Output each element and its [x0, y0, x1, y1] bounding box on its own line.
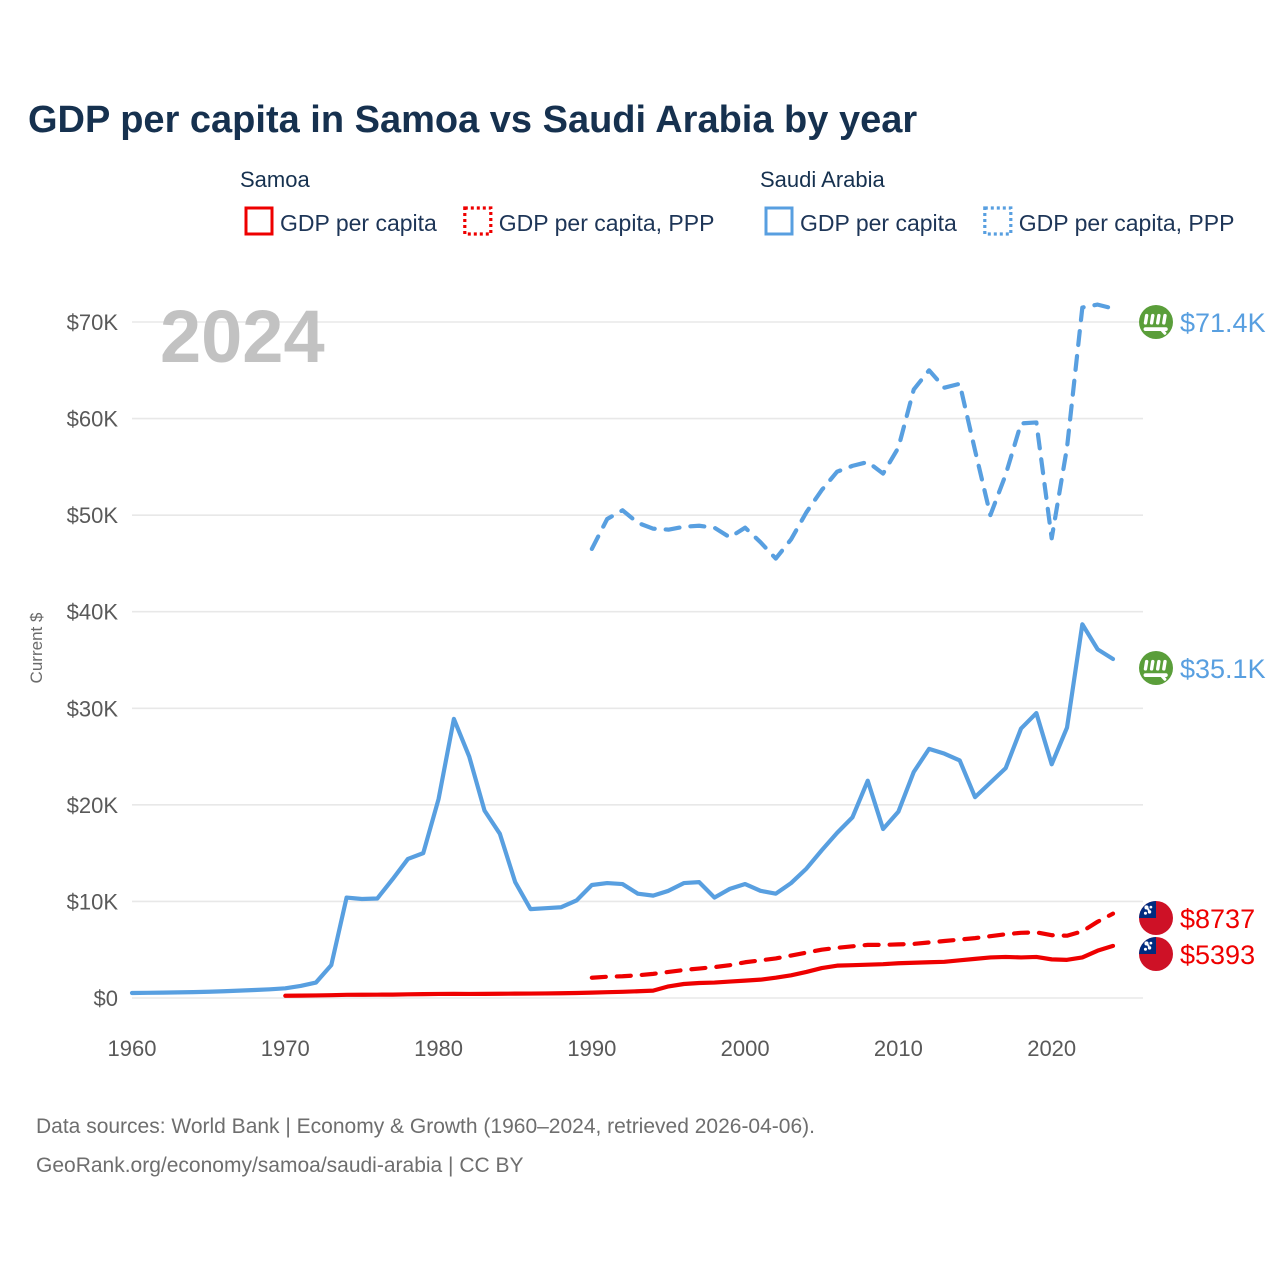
flag-script-stroke [1145, 662, 1146, 669]
end-label-samoa_gdp: $5393 [1139, 937, 1255, 971]
flag-script-stroke [1158, 316, 1159, 323]
x-axis-tick-label: 1960 [108, 1036, 157, 1061]
legend-group-label-saudi-arabia: Saudi Arabia [760, 167, 886, 192]
end-label-saudi_ppp: $71.4K [1139, 305, 1266, 339]
flag-script-stroke [1158, 662, 1159, 669]
x-axis-tick-label: 2000 [721, 1036, 770, 1061]
flag-star [1147, 944, 1149, 946]
series-line-samoa_ppp [592, 914, 1113, 978]
flag-script-stroke [1152, 662, 1153, 669]
y-axis-tick-label: $20K [67, 793, 119, 818]
year-watermark: 2024 [160, 295, 325, 378]
y-axis-tick-label: $0 [94, 986, 118, 1011]
y-axis-tick-label: $50K [67, 503, 119, 528]
gridlines [132, 322, 1143, 998]
legend-item-label: GDP per capita, PPP [499, 210, 715, 236]
legend-swatch-dotted [985, 208, 1011, 234]
legend-swatch-solid [246, 208, 272, 234]
flag-star [1150, 942, 1153, 945]
flag-script-stroke [1164, 316, 1165, 323]
y-axis-tick-label: $10K [67, 889, 119, 914]
x-axis-tick-labels: 1960197019801990200020102020 [108, 1036, 1077, 1061]
legend-item-label: GDP per capita, PPP [1019, 210, 1235, 236]
x-axis-tick-label: 1990 [567, 1036, 616, 1061]
series-line-samoa_gdp [285, 946, 1113, 996]
end-label-saudi_gdp: $35.1K [1139, 651, 1266, 685]
flag-star [1150, 906, 1153, 909]
gdp-per-capita-line-chart: GDP per capita in Samoa vs Saudi Arabia … [0, 0, 1280, 1280]
legend-item[interactable]: GDP per capita [766, 208, 957, 236]
legend-item-label: GDP per capita [800, 210, 957, 236]
saudi-arabia-flag-icon [1139, 305, 1173, 339]
legend-item-label: GDP per capita [280, 210, 437, 236]
legend-item[interactable]: GDP per capita, PPP [465, 208, 715, 236]
saudi-arabia-flag-icon [1139, 651, 1173, 685]
series-lines [132, 305, 1113, 996]
flag-script-stroke [1152, 316, 1153, 323]
y-axis-title: Current $ [27, 612, 46, 683]
x-axis-tick-label: 1970 [261, 1036, 310, 1061]
footer-data-sources: Data sources: World Bank | Economy & Gro… [36, 1115, 815, 1138]
flag-star [1144, 912, 1147, 915]
end-label-value: $71.4K [1180, 308, 1266, 338]
x-axis-tick-label: 1980 [414, 1036, 463, 1061]
flag-script-stroke [1164, 662, 1165, 669]
y-axis-tick-label: $60K [67, 407, 119, 432]
legend-swatch-solid [766, 208, 792, 234]
legend-swatch-dotted [465, 208, 491, 234]
x-axis-tick-label: 2020 [1027, 1036, 1076, 1061]
end-label-value: $35.1K [1180, 654, 1266, 684]
samoa-flag-icon [1139, 901, 1173, 935]
x-axis-tick-label: 2010 [874, 1036, 923, 1061]
flag-star [1148, 910, 1151, 913]
flag-star [1148, 946, 1151, 949]
flag-star [1144, 948, 1147, 951]
end-value-labels: $71.4K$35.1K$8737$5393 [1139, 305, 1266, 971]
samoa-flag-icon [1139, 937, 1173, 971]
end-label-value: $8737 [1180, 904, 1255, 934]
page-title: GDP per capita in Samoa vs Saudi Arabia … [28, 99, 917, 141]
legend: SamoaGDP per capitaGDP per capita, PPPSa… [240, 167, 1234, 236]
legend-item[interactable]: GDP per capita [246, 208, 437, 236]
chart-container: GDP per capita in Samoa vs Saudi Arabia … [0, 0, 1280, 1280]
series-line-saudi_ppp [592, 305, 1113, 559]
y-axis-tick-labels: $0$10K$20K$30K$40K$50K$60K$70K [67, 310, 119, 1011]
y-axis-tick-label: $70K [67, 310, 119, 335]
end-label-value: $5393 [1180, 940, 1255, 970]
y-axis-tick-label: $30K [67, 696, 119, 721]
legend-item[interactable]: GDP per capita, PPP [985, 208, 1235, 236]
flag-star [1147, 908, 1149, 910]
end-label-samoa_ppp: $8737 [1139, 901, 1255, 935]
legend-group-label-samoa: Samoa [240, 167, 310, 192]
flag-script-stroke [1145, 316, 1146, 323]
y-axis-tick-label: $40K [67, 600, 119, 625]
footer-attribution: GeoRank.org/economy/samoa/saudi-arabia |… [36, 1154, 524, 1177]
